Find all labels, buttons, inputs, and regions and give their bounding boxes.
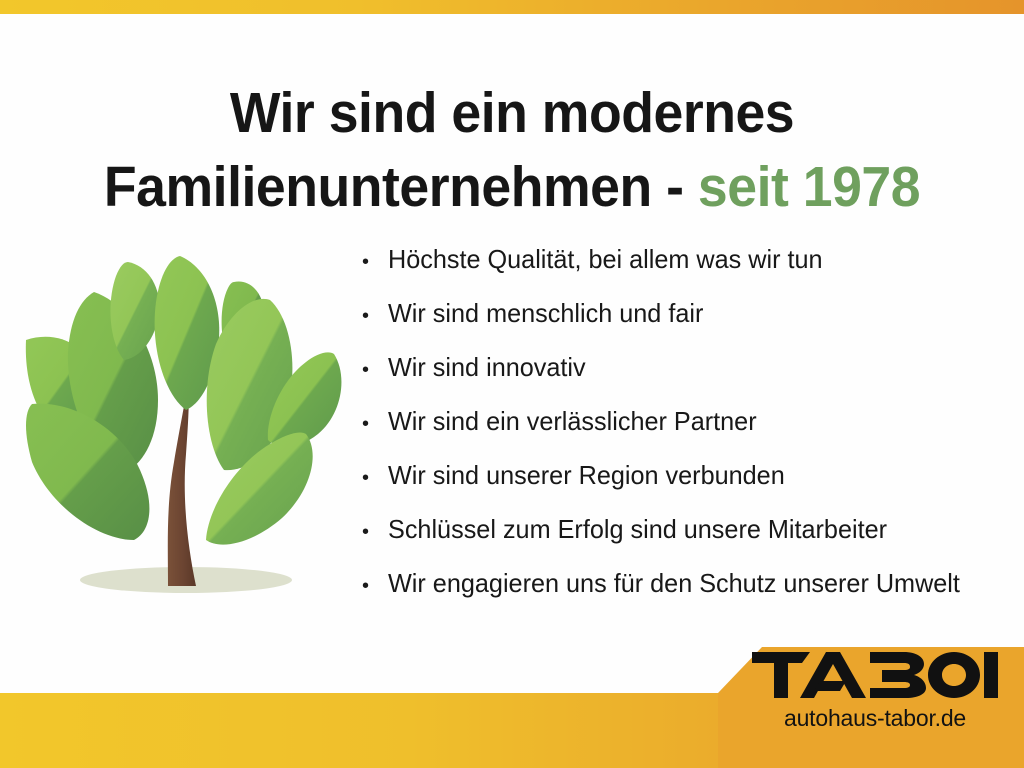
list-item: • Höchste Qualität, bei allem was wir tu… [362,244,1022,298]
headline-line-2: Familienunternehmen - seit 1978 [31,150,994,224]
list-item-label: Höchste Qualität, bei allem was wir tun [388,244,823,274]
bullet-dot-icon: • [362,414,388,434]
value-bullet-list: • Höchste Qualität, bei allem was wir tu… [362,244,1022,622]
bullet-dot-icon: • [362,576,388,596]
list-item-label: Wir sind menschlich und fair [388,298,703,328]
bullet-dot-icon: • [362,468,388,488]
list-item-label: Wir sind ein verlässlicher Partner [388,406,757,436]
headline-line-1: Wir sind ein modernes [31,76,994,150]
headline-line-2-main: Familienunternehmen - [104,155,698,219]
list-item-label: Wir sind unserer Region verbunden [388,460,785,490]
brand-logo[interactable]: autohaus-tabor.de [752,652,1024,762]
list-item-label: Wir engagieren uns für den Schutz unsere… [388,568,960,598]
top-gradient-band [0,0,1024,14]
bullet-dot-icon: • [362,360,388,380]
list-item: • Wir sind innovativ [362,352,1022,406]
tabor-wordmark-icon [752,652,1024,698]
logo-website-url[interactable]: autohaus-tabor.de [752,705,998,731]
tree-leaf-top-small [110,262,159,360]
list-item: • Wir sind unserer Region verbunden [362,460,1022,514]
tree-trunk [168,381,196,586]
slide-canvas: Wir sind ein modernes Familienunternehme… [0,0,1024,768]
list-item: • Wir sind ein verlässlicher Partner [362,406,1022,460]
bullet-dot-icon: • [362,252,388,272]
list-item: • Wir engagieren uns für den Schutz unse… [362,568,1022,622]
headline-accent-since-1978: seit 1978 [698,155,920,219]
list-item-label: Wir sind innovativ [388,352,586,382]
list-item: • Wir sind menschlich und fair [362,298,1022,352]
bullet-dot-icon: • [362,522,388,542]
list-item: • Schlüssel zum Erfolg sind unsere Mitar… [362,514,1022,568]
bullet-dot-icon: • [362,306,388,326]
list-item-label: Schlüssel zum Erfolg sind unsere Mitarbe… [388,514,887,544]
tree-illustration [18,248,358,608]
page-title: Wir sind ein modernes Familienunternehme… [0,76,1024,224]
